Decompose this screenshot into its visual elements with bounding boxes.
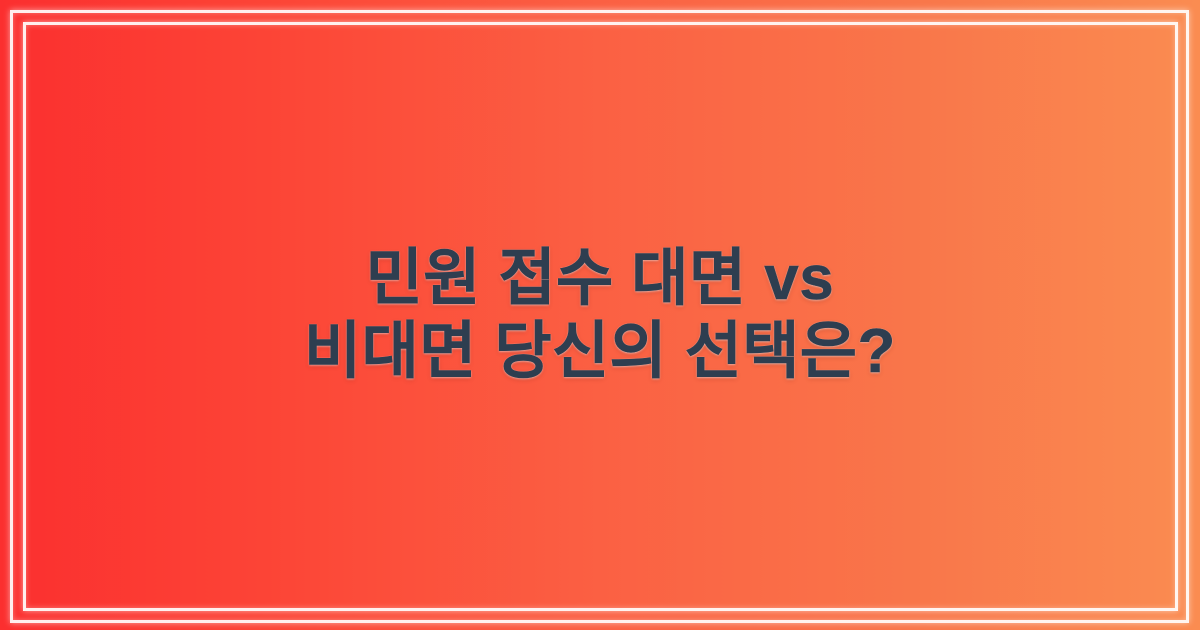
poster-canvas: 민원 접수 대면 vs 비대면 당신의 선택은? <box>0 0 1200 630</box>
page-title: 민원 접수 대면 vs 비대면 당신의 선택은? <box>264 242 936 388</box>
headline-line-1: 민원 접수 대면 vs <box>304 242 896 315</box>
headline-line-2: 비대면 당신의 선택은? <box>304 315 896 388</box>
headline-container: 민원 접수 대면 vs 비대면 당신의 선택은? <box>0 0 1200 630</box>
